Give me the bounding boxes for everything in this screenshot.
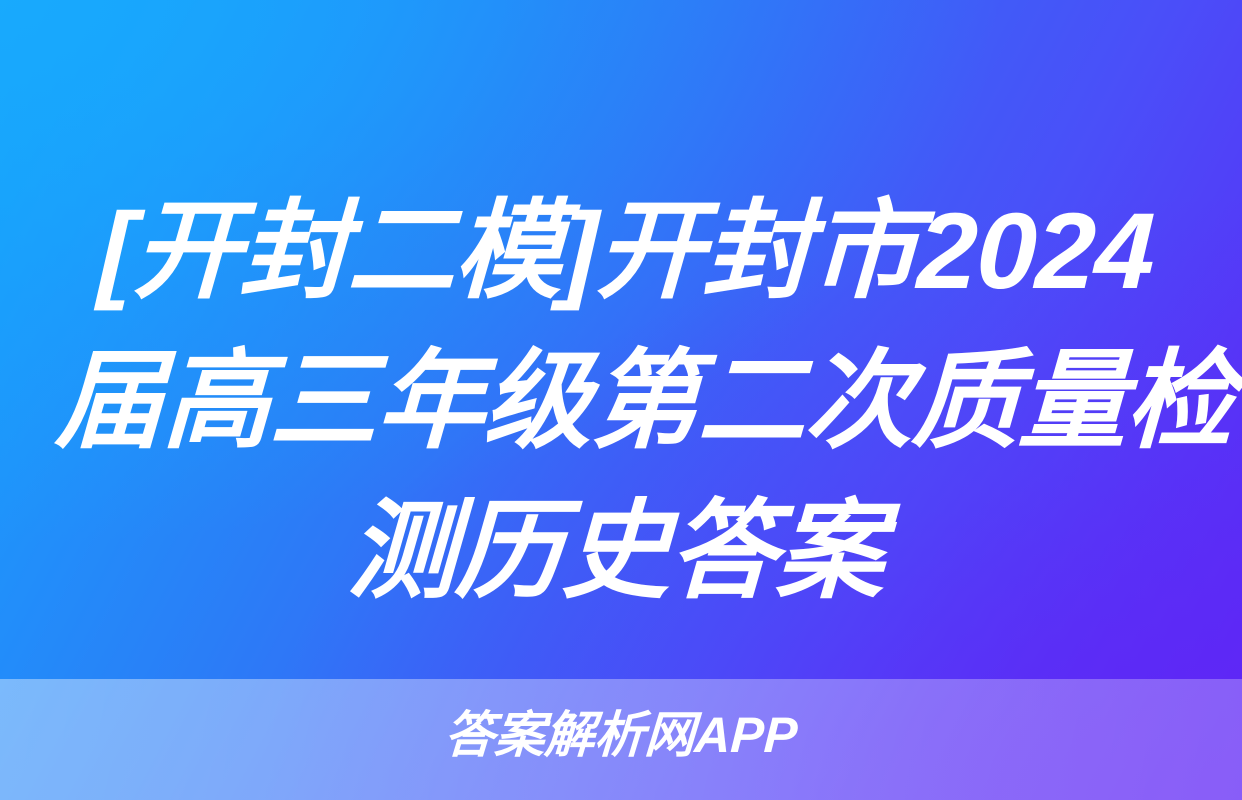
watermark-label: 答案解析网APP <box>0 705 1242 765</box>
title-line-1: [开封二模]开封市2024 <box>59 176 1194 326</box>
title-line-2: 届高三年级第二次质量检 <box>53 326 1188 476</box>
page-title: [开封二模]开封市2024 届高三年级第二次质量检 测历史答案 <box>0 176 1242 626</box>
poster-canvas: [开封二模]开封市2024 届高三年级第二次质量检 测历史答案 答案解析网APP <box>0 0 1242 800</box>
title-line-3: 测历史答案 <box>48 476 1183 626</box>
